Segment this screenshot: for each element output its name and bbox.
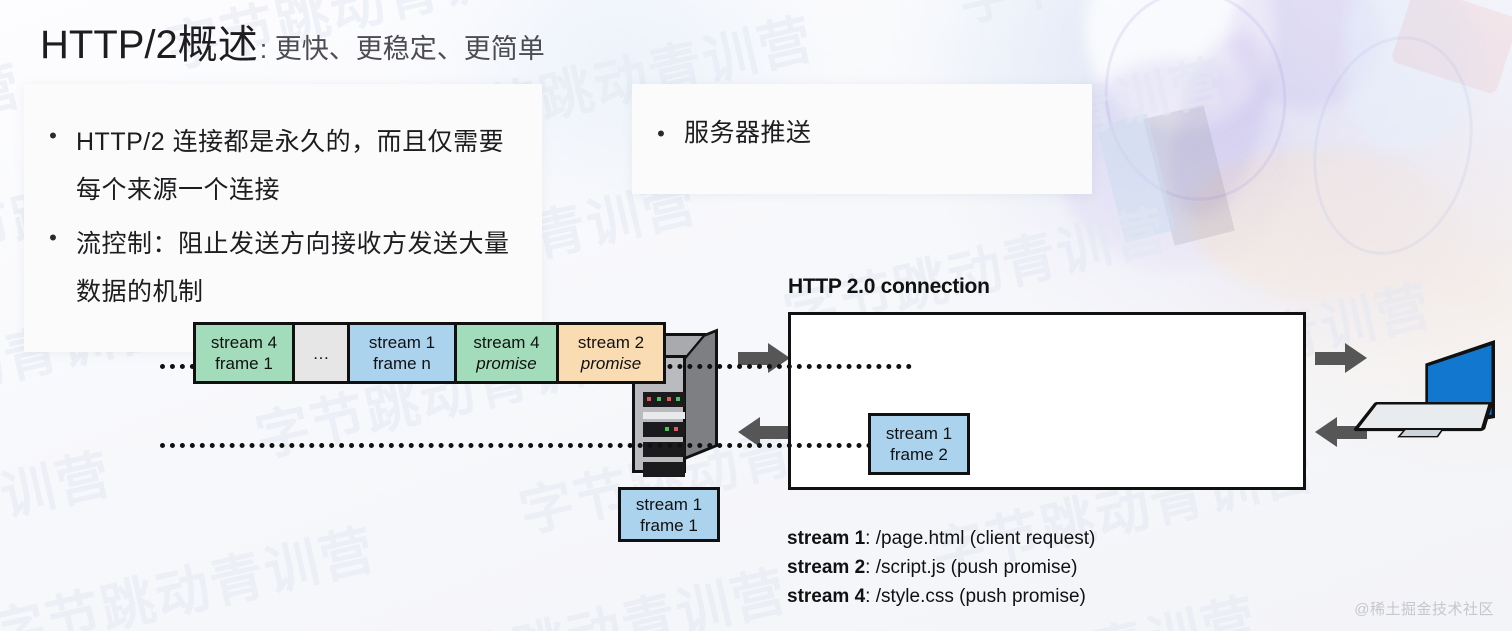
frame-line-1: stream 1 [636, 494, 702, 515]
legend-value: : /page.html (client request) [865, 528, 1095, 549]
stream-line-bottom [160, 443, 912, 448]
legend-key: stream 2 [787, 557, 865, 578]
frame-line-1: stream 1 [886, 423, 952, 444]
list-item-label: HTTP/2 连接都是永久的，而且仅需要每个来源一个连接 [76, 118, 522, 214]
slide-canvas: 字节跳动青训营 字节跳动青训营 字节跳动青训营 字节跳动青训营 字节跳动青训营 … [0, 0, 1512, 631]
frame-line-1: stream 4 [473, 332, 539, 353]
frame-box-stream1-frame1: stream 1 frame 1 [618, 487, 720, 542]
frame-line-1: stream 4 [211, 332, 277, 353]
laptop-icon [1375, 340, 1500, 450]
page-title-main: HTTP/2概述 [40, 12, 258, 70]
frame-line-2: … [313, 343, 330, 364]
legend-value: : /script.js (push promise) [865, 557, 1077, 578]
frame-line-1: stream 2 [578, 332, 644, 353]
list-item: • 流控制：阻止发送方向接收方发送大量数据的机制 [42, 220, 522, 316]
frame-box-ellipsis: … [292, 322, 350, 384]
frame-box: stream 1 frame n [347, 322, 457, 384]
frame-box-stream1-frame2: stream 1 frame 2 [868, 413, 970, 475]
diagram-legend: stream 1: /page.html (client request) st… [787, 524, 1095, 611]
bullet-marker-icon: • [42, 118, 64, 154]
list-item-label: 服务器推送 [684, 116, 812, 150]
site-credit: @稀土掘金技术社区 [1354, 598, 1494, 619]
legend-row: stream 1: /page.html (client request) [787, 524, 1095, 553]
legend-row: stream 2: /script.js (push promise) [787, 553, 1095, 582]
frame-line-2: promise [476, 353, 536, 374]
page-title: HTTP/2概述 : 更快、更稳定、更简单 [40, 12, 545, 70]
legend-key: stream 1 [787, 528, 865, 549]
list-item: • 服务器推送 [650, 116, 1072, 152]
frame-line-2: frame 1 [640, 515, 698, 536]
frame-line-2: frame 1 [215, 353, 273, 374]
legend-value: : /style.css (push promise) [865, 586, 1086, 607]
frame-box: stream 4 promise [454, 322, 559, 384]
frame-line-2: promise [581, 353, 641, 374]
frame-box: stream 4 frame 1 [193, 322, 295, 384]
list-item-label: 流控制：阻止发送方向接收方发送大量数据的机制 [76, 220, 522, 316]
list-item: • HTTP/2 连接都是永久的，而且仅需要每个来源一个连接 [42, 118, 522, 214]
frame-line-1: stream 1 [369, 332, 435, 353]
frame-line-2: frame 2 [890, 444, 948, 465]
connection-container [788, 312, 1306, 490]
bullet-marker-icon: • [42, 220, 64, 256]
right-bullet-list: • 服务器推送 [632, 84, 1092, 152]
page-title-subtitle: : 更快、更稳定、更简单 [260, 27, 545, 66]
legend-key: stream 4 [787, 586, 865, 607]
bullet-marker-icon: • [650, 116, 672, 152]
left-content-card: • HTTP/2 连接都是永久的，而且仅需要每个来源一个连接 • 流控制：阻止发… [24, 84, 542, 352]
legend-row: stream 4: /style.css (push promise) [787, 582, 1095, 611]
connection-frame-row: stream 4 frame 1 … stream 1 frame n stre… [196, 322, 666, 384]
diagram-title: HTTP 2.0 connection [788, 275, 990, 299]
left-bullet-list: • HTTP/2 连接都是永久的，而且仅需要每个来源一个连接 • 流控制：阻止发… [24, 84, 542, 316]
right-content-card: • 服务器推送 [632, 84, 1092, 194]
frame-line-2: frame n [373, 353, 431, 374]
frame-box: stream 2 promise [556, 322, 666, 384]
arrow-right-client-icon [1315, 343, 1367, 373]
